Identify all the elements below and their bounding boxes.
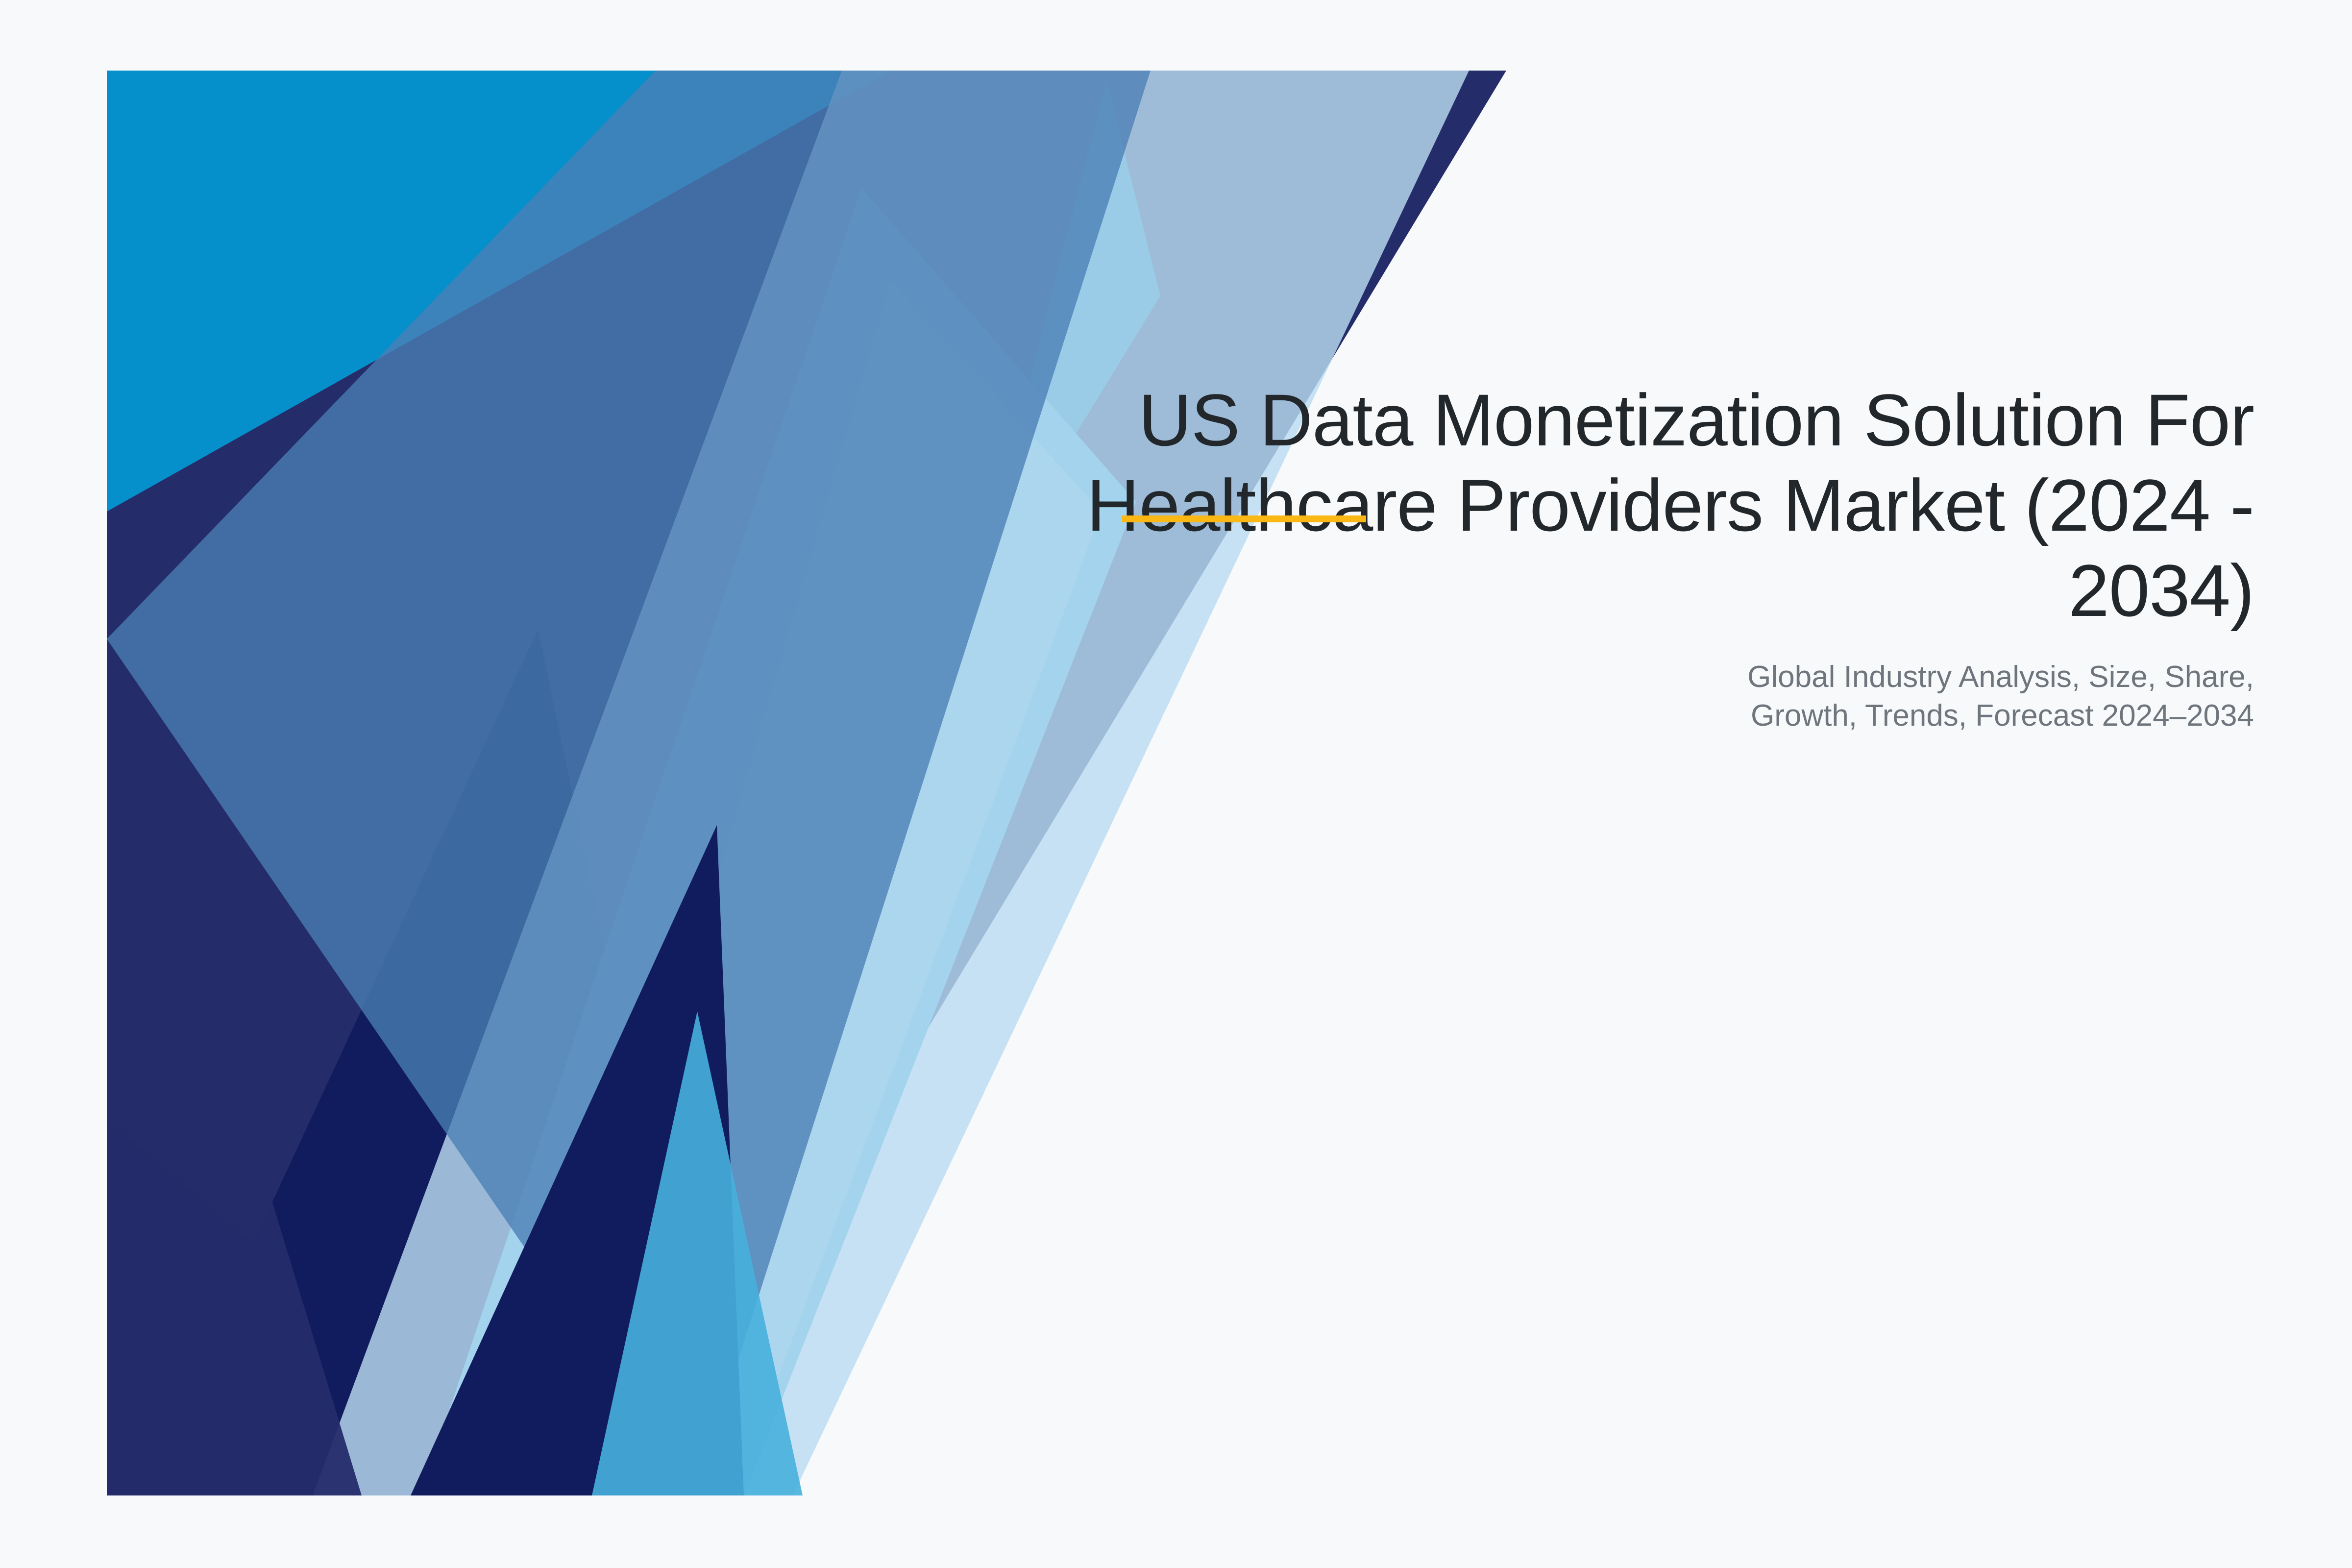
cover-artwork [107,71,1506,1495]
page-title: US Data Monetization Solution For Health… [882,377,2254,633]
page-subtitle: Global Industry Analysis, Size, Share, G… [882,658,2254,735]
title-block: US Data Monetization Solution For Health… [882,377,2254,735]
title-underline-accent [1122,515,1366,522]
abstract-geometric-graphic [107,71,1506,1495]
report-cover-page: US Data Monetization Solution For Health… [0,0,2352,1568]
